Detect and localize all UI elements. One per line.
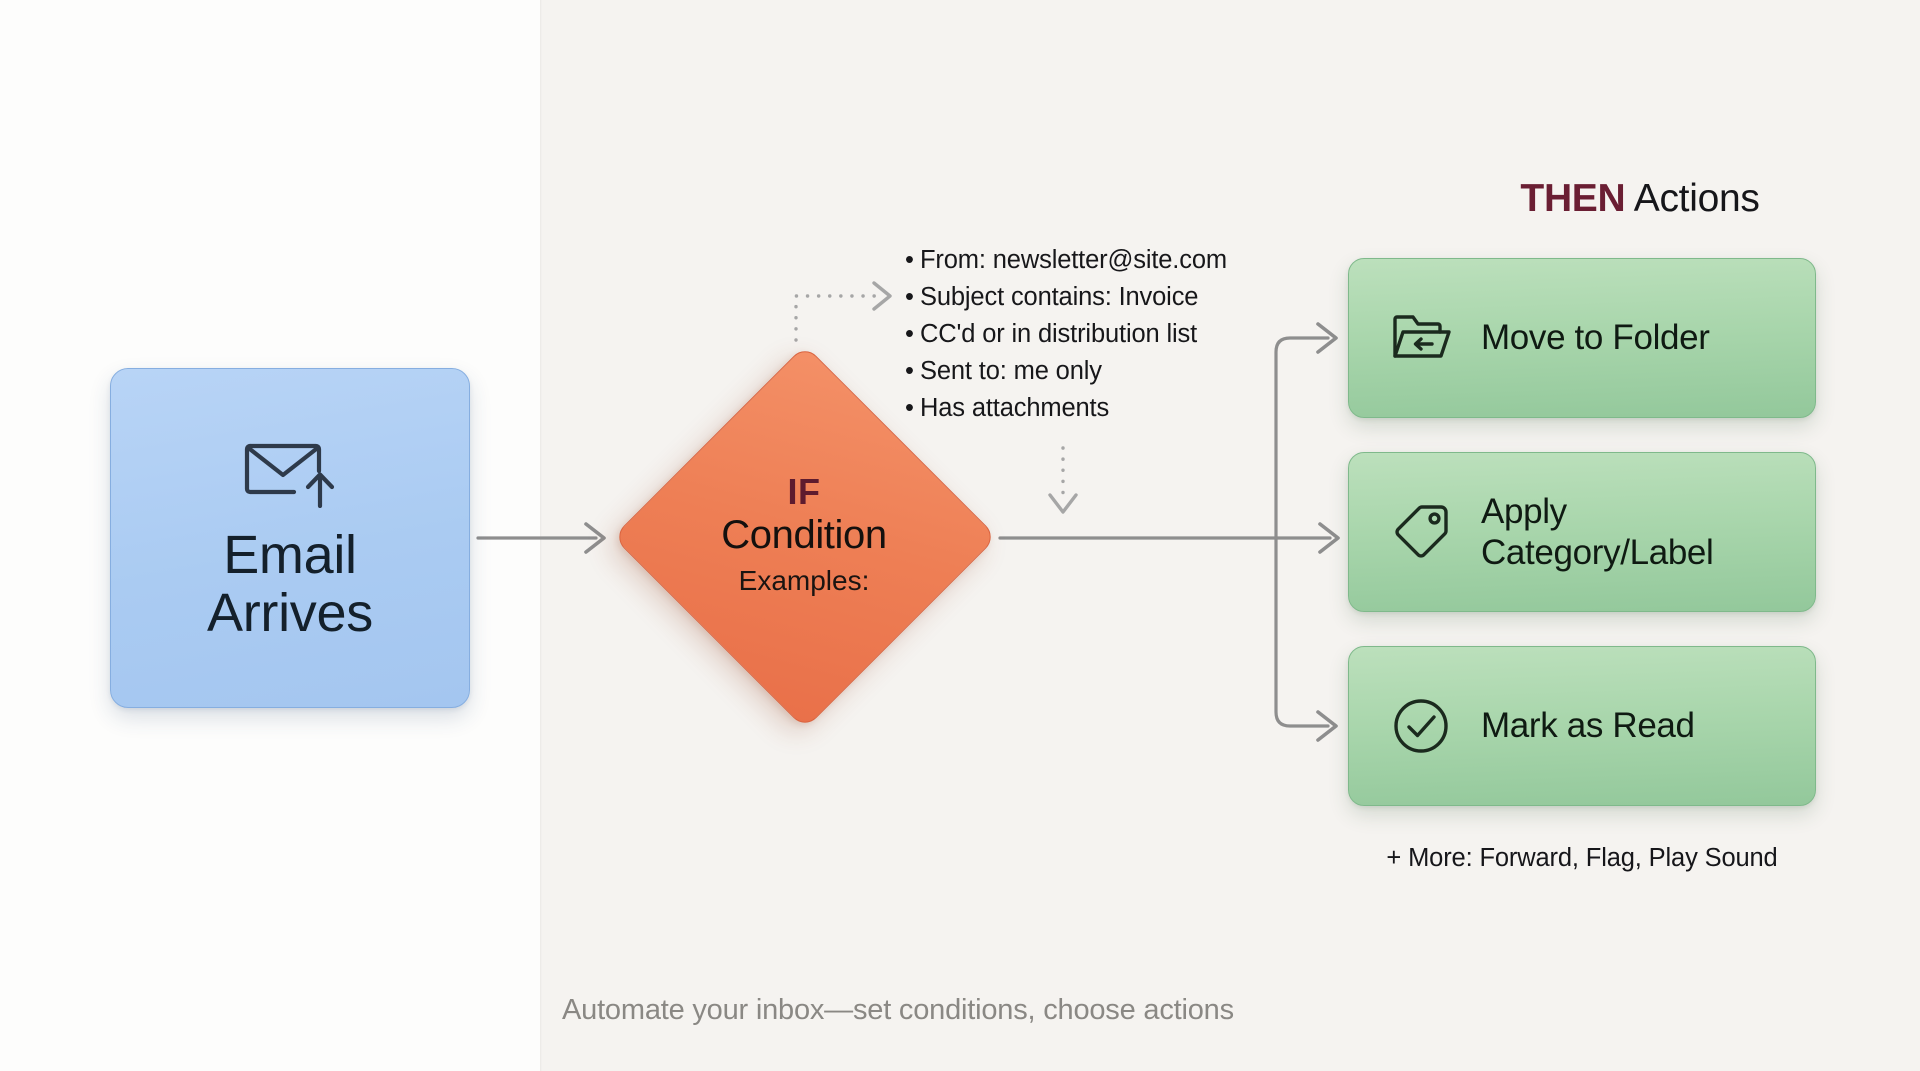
envelope-up-arrow-icon [242, 434, 338, 508]
edge-examples-to-flow [1050, 448, 1076, 512]
actions-header-rest: Actions [1625, 177, 1759, 220]
actions-header: THEN Actions [1430, 178, 1850, 221]
action-label: Mark as Read [1481, 705, 1695, 746]
action-node-mark-as-read[interactable]: Mark as Read [1348, 646, 1816, 806]
action-label: Apply Category/Label [1481, 491, 1713, 574]
condition-examples-list: •From: newsletter@site.com •Subject cont… [905, 242, 1305, 427]
list-item-label: Has attachments [920, 394, 1109, 422]
edge-trigger-to-condition [478, 524, 604, 552]
list-item: •CC'd or in distribution list [905, 316, 1305, 353]
bullet-glyph: • [905, 316, 920, 353]
condition-title: Condition [721, 512, 886, 559]
diagram-canvas: Email Arrives IF Condition Examples: •Fr… [0, 0, 1920, 1071]
arrowheads-actions [1318, 324, 1338, 740]
condition-subtitle: Examples: [739, 563, 870, 599]
list-item: •Has attachments [905, 390, 1305, 427]
bullet-glyph: • [905, 279, 920, 316]
bullet-glyph: • [905, 353, 920, 390]
list-item-label: CC'd or in distribution list [920, 320, 1197, 348]
list-item: •Sent to: me only [905, 353, 1305, 390]
action-label: Move to Folder [1481, 317, 1710, 358]
list-item: •From: newsletter@site.com [905, 242, 1305, 279]
action-node-move-to-folder[interactable]: Move to Folder [1348, 258, 1816, 418]
list-item-label: Subject contains: Invoice [920, 283, 1198, 311]
folder-move-icon [1389, 306, 1453, 370]
condition-keyword: IF [788, 472, 821, 512]
list-item-label: Sent to: me only [920, 357, 1102, 385]
edge-condition-to-examples [796, 283, 890, 340]
trigger-node-email-arrives[interactable]: Email Arrives [110, 368, 470, 708]
list-item: •Subject contains: Invoice [905, 279, 1305, 316]
action-node-apply-category-label[interactable]: Apply Category/Label [1348, 452, 1816, 612]
bullet-glyph: • [905, 242, 920, 279]
trigger-label: Email Arrives [207, 526, 373, 643]
diagram-caption: Automate your inbox—set conditions, choo… [562, 993, 1234, 1028]
more-actions-note: + More: Forward, Flag, Play Sound [1348, 843, 1816, 874]
list-item-label: From: newsletter@site.com [920, 246, 1227, 274]
tag-icon [1389, 500, 1453, 564]
bullet-glyph: • [905, 390, 920, 427]
actions-header-keyword: THEN [1520, 177, 1625, 220]
check-circle-icon [1389, 694, 1453, 758]
